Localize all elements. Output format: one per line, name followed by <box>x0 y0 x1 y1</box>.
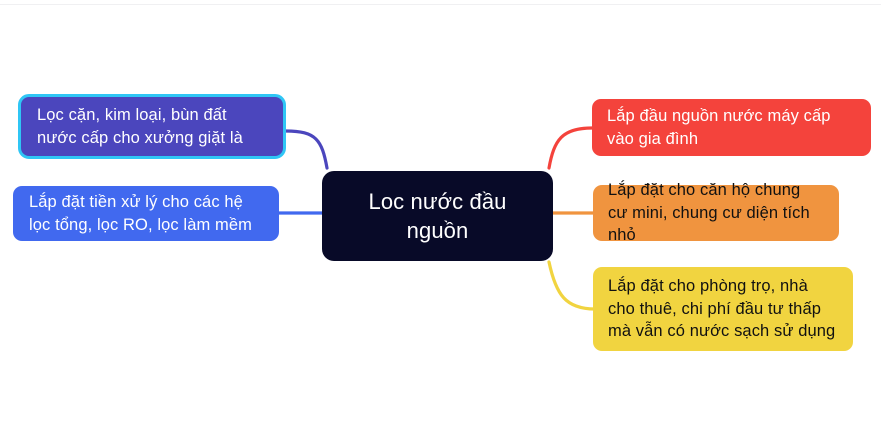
branch-node-left-1-label: Lọc cặn, kim loại, bùn đất nước cấp cho … <box>21 104 283 150</box>
branch-node-left-2-label: Lắp đặt tiền xử lý cho các hệ lọc tổng, … <box>13 191 279 237</box>
branch-node-left-2[interactable]: Lắp đặt tiền xử lý cho các hệ lọc tổng, … <box>13 186 279 241</box>
top-divider <box>0 4 881 5</box>
branch-node-right-3-label: Lắp đặt cho phòng trọ, nhà cho thuê, chi… <box>593 275 853 343</box>
branch-node-right-3[interactable]: Lắp đặt cho phòng trọ, nhà cho thuê, chi… <box>593 267 853 351</box>
center-node-label: Loc nước đầu nguồn <box>322 187 553 246</box>
connector-left-1 <box>286 131 327 168</box>
mind-map-canvas: Lọc cặn, kim loại, bùn đất nước cấp cho … <box>0 0 881 447</box>
center-node[interactable]: Loc nước đầu nguồn <box>322 171 553 261</box>
branch-node-left-1[interactable]: Lọc cặn, kim loại, bùn đất nước cấp cho … <box>18 94 286 159</box>
branch-node-right-2-label: Lắp đặt cho căn hộ chung cư mini, chung … <box>593 179 839 247</box>
branch-node-right-1[interactable]: Lắp đầu nguồn nước máy cấp vào gia đình <box>592 99 871 156</box>
connector-right-1 <box>549 128 592 168</box>
branch-node-right-2[interactable]: Lắp đặt cho căn hộ chung cư mini, chung … <box>593 185 839 241</box>
connector-right-3 <box>549 262 595 309</box>
branch-node-right-1-label: Lắp đầu nguồn nước máy cấp vào gia đình <box>592 105 871 151</box>
